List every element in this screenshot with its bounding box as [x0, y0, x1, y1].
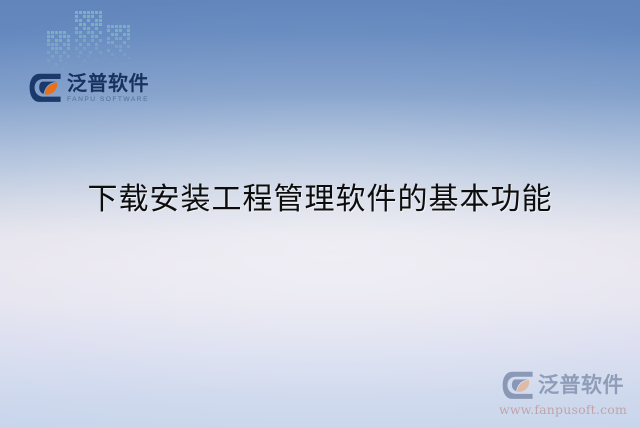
presentation-slide: 泛普软件 FANPU SOFTWARE 下载安装工程管理软件的基本功能 泛普软件… [0, 0, 640, 427]
page-title: 下载安装工程管理软件的基本功能 [0, 180, 640, 220]
pixel-skyline-decoration [44, 2, 134, 74]
watermark-url: www.fanpusoft.com [494, 402, 632, 417]
brand-name-english: FANPU SOFTWARE [67, 95, 151, 104]
brand-name-chinese: 泛普软件 [67, 74, 149, 95]
watermark-name-chinese: 泛普软件 [538, 374, 624, 397]
watermark-logo-row: 泛普软件 [494, 371, 632, 400]
brand-logo: 泛普软件 FANPU SOFTWARE [29, 71, 149, 105]
brand-wordmark: 泛普软件 FANPU SOFTWARE [67, 73, 149, 104]
fanpu-logo-watermark-icon [502, 371, 534, 400]
fanpu-logo-icon [29, 73, 62, 103]
watermark: 泛普软件 www.fanpusoft.com [494, 371, 632, 417]
